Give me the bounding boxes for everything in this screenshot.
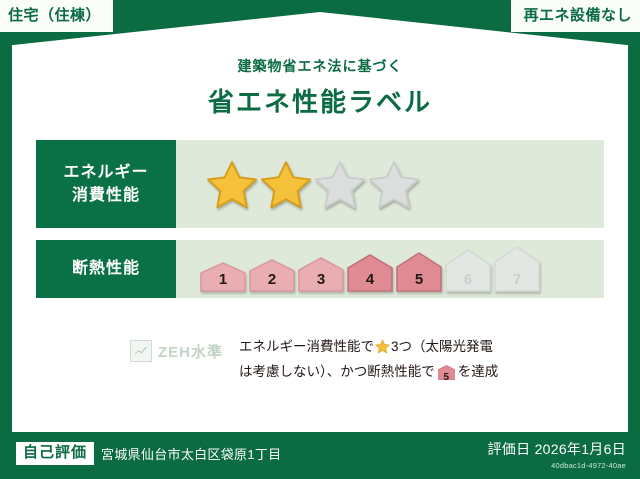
footer-divider — [12, 431, 628, 432]
insulation-level-number: 1 — [200, 271, 246, 288]
zeh-badge-label: ZEH水準 — [158, 341, 223, 362]
insulation-level-number: 5 — [396, 271, 442, 288]
footer-right-group: 評価日 2026年1月6日 40dbac1d-4972-40ae — [487, 439, 626, 470]
inline-house-icon: 5 — [438, 365, 455, 387]
energy-performance-label: 住宅（住棟） 再エネ設備なし 建築物省エネ法に基づく 省エネ性能ラベル エネルギ… — [0, 0, 640, 479]
energy-performance-row: エネルギー消費性能 — [36, 140, 604, 228]
zeh-badge: ZEH水準 — [130, 340, 223, 362]
energy-performance-label-cell: エネルギー消費性能 — [36, 140, 176, 228]
zeh-standard-note: ZEH水準 エネルギー消費性能で3つ（太陽光発電は考慮しない）、かつ断熱性能で5… — [130, 336, 498, 387]
star-filled-icon — [260, 159, 312, 209]
star-filled-icon — [206, 159, 258, 209]
insulation-level-number: 6 — [445, 271, 491, 288]
footer-bar: 自己評価 宮城県仙台市太白区袋原1丁目 評価日 2026年1月6日 40dbac… — [0, 434, 640, 479]
insulation-level-7: 7 — [494, 246, 540, 292]
title-subtitle: 建築物省エネ法に基づく — [0, 56, 640, 76]
zeh-desc-part2: は考慮しない）、かつ断熱性能で — [239, 364, 435, 379]
footer-left-group: 自己評価 宮城県仙台市太白区袋原1丁目 — [16, 442, 281, 465]
inline-house-number: 5 — [438, 370, 455, 386]
insulation-level-number: 7 — [494, 271, 540, 288]
energy-performance-panel — [176, 140, 604, 228]
insulation-level-3: 3 — [298, 257, 344, 292]
page-title: 省エネ性能ラベル — [0, 82, 640, 119]
insulation-level-2: 2 — [249, 259, 295, 292]
insulation-level-number: 4 — [347, 271, 393, 288]
zeh-chart-icon — [130, 340, 152, 362]
property-address: 宮城県仙台市太白区袋原1丁目 — [101, 444, 281, 463]
star-rating — [206, 159, 420, 209]
title-block: 建築物省エネ法に基づく 省エネ性能ラベル — [0, 56, 640, 119]
insulation-performance-label-cell: 断熱性能 — [36, 240, 176, 298]
evaluation-date: 評価日 2026年1月6日 — [487, 439, 626, 459]
star-empty-icon — [314, 159, 366, 209]
insulation-level-number: 3 — [298, 271, 344, 288]
insulation-performance-row: 断熱性能 1234567 — [36, 240, 604, 298]
zeh-desc-part3: を達成 — [458, 364, 499, 379]
insulation-level-5: 5 — [396, 252, 442, 292]
inline-star-icon — [375, 342, 390, 357]
insulation-level-6: 6 — [445, 249, 491, 292]
renewable-equipment-tag: 再エネ設備なし — [511, 0, 640, 32]
insulation-level-number: 2 — [249, 271, 295, 288]
insulation-performance-panel: 1234567 — [176, 240, 604, 298]
insulation-level-4: 4 — [347, 254, 393, 292]
insulation-level-scale: 1234567 — [200, 246, 540, 292]
energy-label-text: エネルギー消費性能 — [63, 161, 148, 207]
self-evaluation-badge: 自己評価 — [16, 442, 94, 465]
star-empty-icon — [368, 159, 420, 209]
zeh-desc-part1: エネルギー消費性能で — [239, 339, 374, 354]
building-type-tag: 住宅（住棟） — [0, 0, 113, 32]
zeh-desc-starcount: 3つ（太陽光発電 — [391, 339, 493, 354]
evaluation-id: 40dbac1d-4972-40ae — [487, 461, 626, 470]
insulation-level-1: 1 — [200, 262, 246, 292]
zeh-description: エネルギー消費性能で3つ（太陽光発電は考慮しない）、かつ断熱性能で5を達成 — [239, 336, 498, 387]
